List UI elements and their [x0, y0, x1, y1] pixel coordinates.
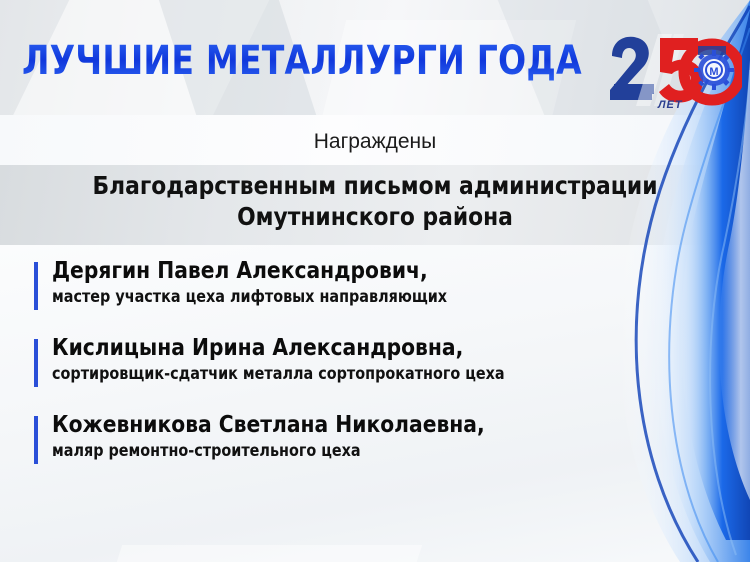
- logo-250-graphic: М: [602, 28, 742, 110]
- list-item: Кожевникова Светлана Николаевна, маляр р…: [34, 412, 674, 462]
- accent-bar: [34, 416, 38, 464]
- honoree-role: мастер участка цеха лифтовых направляющи…: [52, 286, 637, 308]
- honoree-name: Кислицына Ирина Александровна,: [52, 335, 662, 362]
- accent-bar: [34, 339, 38, 387]
- slide-root: ЛУЧШИЕ МЕТАЛЛУРГИ ГОДА: [0, 0, 750, 562]
- honoree-role: маляр ремонтно-строительного цеха: [52, 440, 637, 462]
- award-title-line-1: Благодарственным письмом администрации: [11, 170, 739, 201]
- anniversary-logo-250: М ЛЕТ: [602, 28, 742, 110]
- page-title: ЛУЧШИЕ МЕТАЛЛУРГИ ГОДА: [22, 39, 582, 83]
- award-intro-text: Награждены: [0, 130, 750, 154]
- logo-gear-letter: М: [709, 66, 718, 78]
- list-item: Кислицына Ирина Александровна, сортировщ…: [34, 335, 674, 385]
- award-title-line-2: Омутнинского района: [11, 201, 739, 232]
- honoree-list: Дерягин Павел Александрович, мастер учас…: [34, 258, 674, 489]
- honoree-role: сортировщик-сдатчик металла сортопрокатн…: [52, 363, 637, 385]
- accent-bar: [34, 262, 38, 310]
- honoree-name: Дерягин Павел Александрович,: [52, 258, 662, 285]
- award-title: Благодарственным письмом администрации О…: [11, 170, 739, 232]
- list-item: Дерягин Павел Александрович, мастер учас…: [34, 258, 674, 308]
- background-facet: [38, 545, 422, 562]
- logo-years-label: ЛЕТ: [658, 99, 683, 111]
- honoree-name: Кожевникова Светлана Николаевна,: [52, 412, 662, 439]
